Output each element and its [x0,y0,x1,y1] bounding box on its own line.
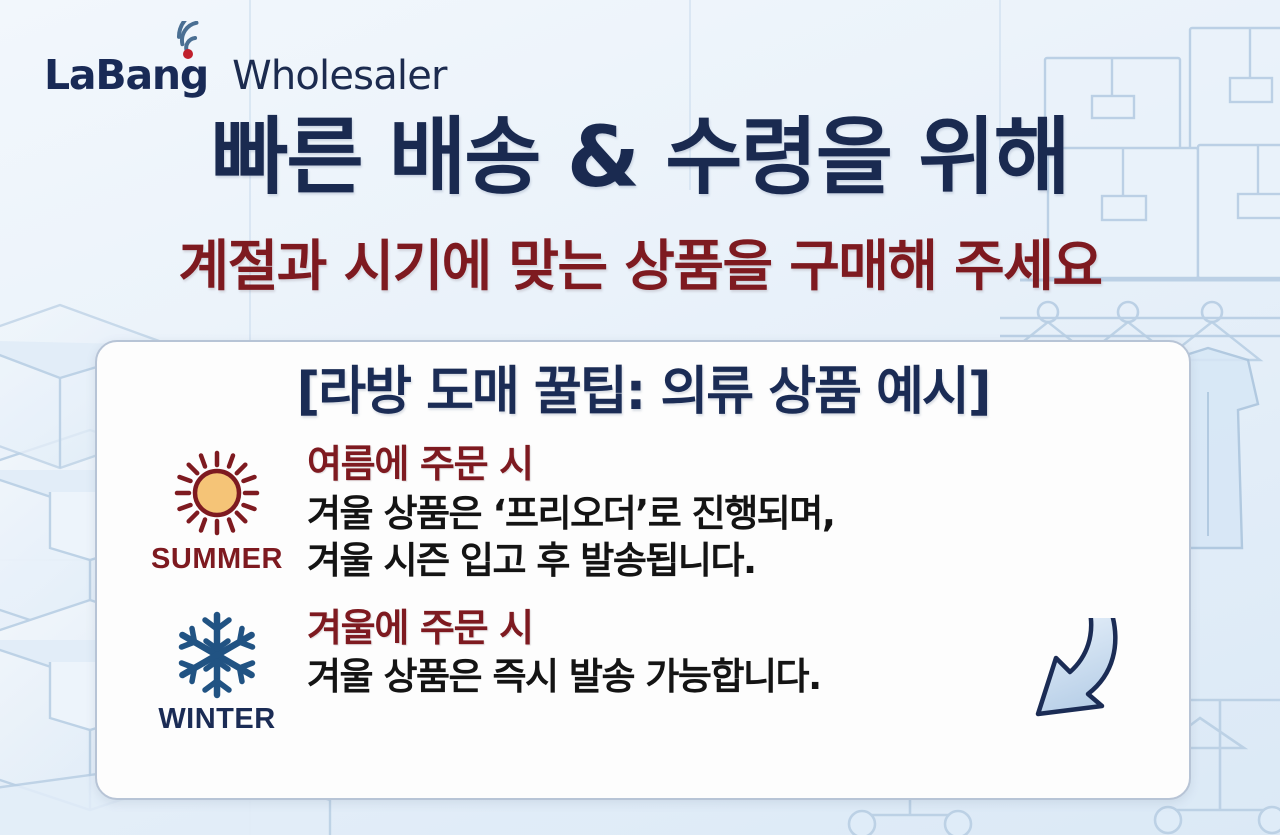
season-row-summer: SUMMER 여름에 주문 시 겨울 상품은 ‘프리오더’로 진행되며, 겨울 … [97,439,1189,583]
logo-wordmark: LaBang [44,55,208,96]
page-headline: 빠른 배송 & 수령을 위해 [0,113,1280,201]
wifi-signal-icon [174,21,220,61]
logo-labang-text: LaBang [44,55,208,96]
season-body-winter-line1: 겨울 상품은 즉시 발송 가능합니다. [307,654,821,699]
sun-icon [169,445,265,541]
season-body-summer-line1: 겨울 상품은 ‘프리오더’로 진행되며, [307,491,834,536]
season-badge-winter: WINTER [127,603,307,736]
season-label-summer: SUMMER [151,543,283,576]
brand-logo: LaBang Wholesaler [44,30,447,96]
snowflake-icon [171,609,263,701]
card-title: [라방 도매 꿀팁: 의류 상품 예시] [97,364,1189,421]
season-text-winter: 겨울에 주문 시 겨울 상품은 즉시 발송 가능합니다. [307,603,821,700]
season-badge-summer: SUMMER [127,439,307,576]
season-label-winter: WINTER [158,703,275,736]
season-text-summer: 여름에 주문 시 겨울 상품은 ‘프리오더’로 진행되며, 겨울 시즌 입고 후… [307,439,834,583]
curved-down-left-arrow-icon [1016,618,1136,728]
page-subheadline: 계절과 시기에 맞는 상품을 구매해 주세요 [0,238,1280,296]
logo-wholesaler-text: Wholesaler [232,56,447,96]
season-heading-summer: 여름에 주문 시 [307,441,834,489]
logo-red-dot [183,49,193,59]
season-body-summer-line2: 겨울 시즌 입고 후 발송됩니다. [307,538,834,583]
tip-card: [라방 도매 꿀팁: 의류 상품 예시] [95,340,1191,800]
season-heading-winter: 겨울에 주문 시 [307,605,821,653]
